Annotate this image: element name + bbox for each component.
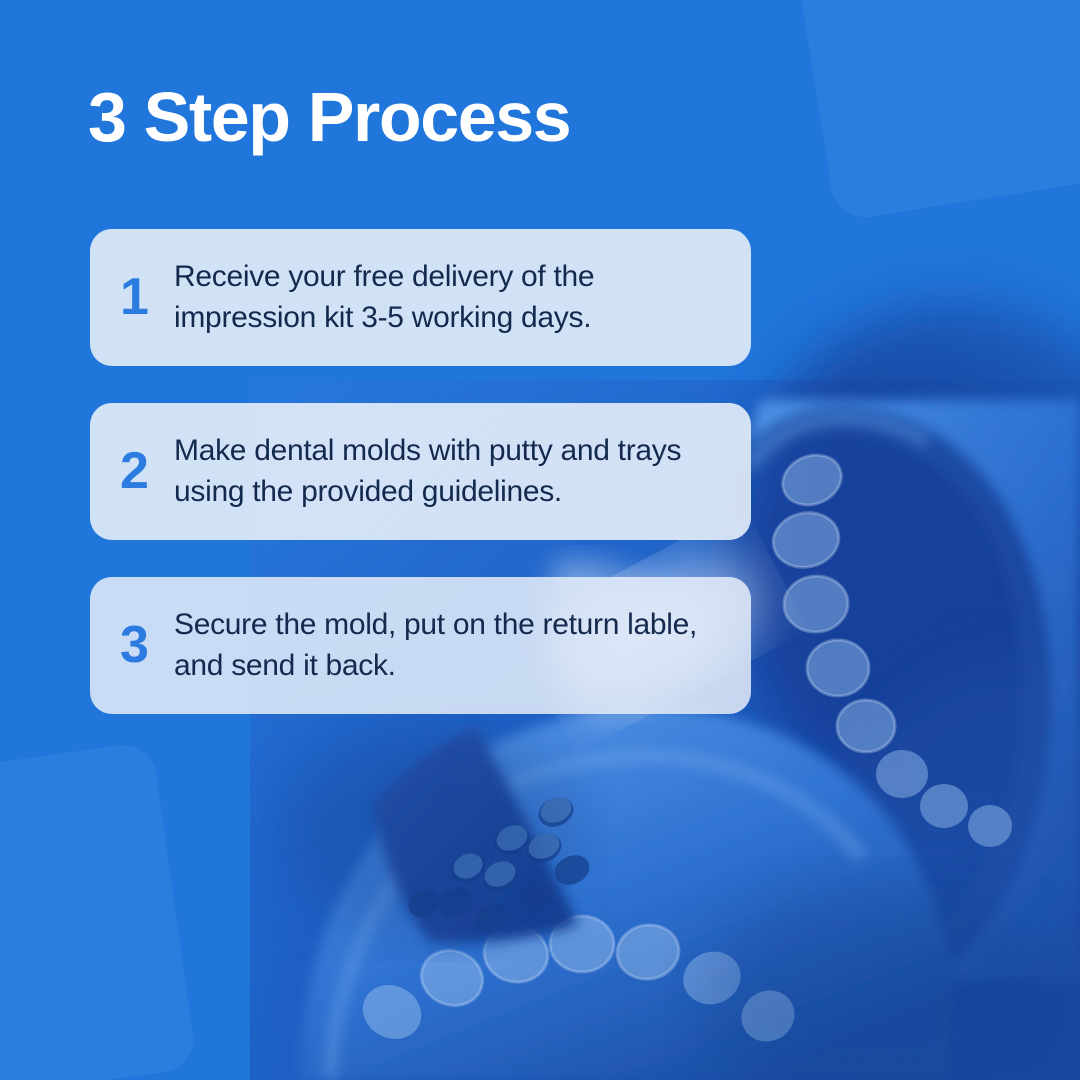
step-number-1: 1 — [120, 269, 174, 325]
step-number-2: 2 — [120, 443, 174, 499]
step-card-1: 1 Receive your free delivery of the impr… — [90, 229, 751, 366]
step-card-2: 2 Make dental molds with putty and trays… — [90, 403, 751, 540]
step-card-3: 3 Secure the mold, put on the return lab… — [90, 577, 751, 714]
decorative-panel-bottom-left — [0, 741, 198, 1080]
step-text-2: Make dental molds with putty and trays u… — [174, 430, 729, 512]
step-list: 1 Receive your free delivery of the impr… — [90, 229, 751, 714]
decorative-panel-top-right — [791, 0, 1080, 222]
step-text-3: Secure the mold, put on the return lable… — [174, 604, 729, 686]
step-number-3: 3 — [120, 617, 174, 673]
poster-canvas: 3 Step Process 1 Receive your free deliv… — [0, 0, 1080, 1080]
page-title: 3 Step Process — [88, 78, 570, 156]
step-text-1: Receive your free delivery of the impres… — [174, 256, 729, 338]
